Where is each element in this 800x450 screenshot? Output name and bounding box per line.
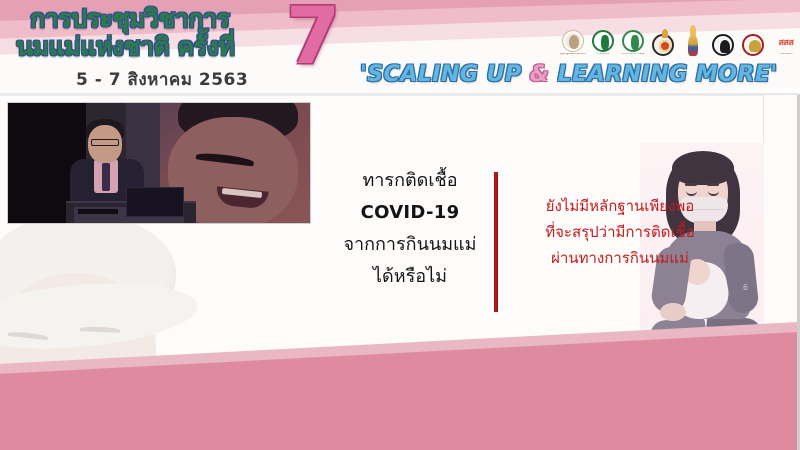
ministry-of-public-health-logo: กรมอนามัย [590,22,616,56]
tagline-text-part1: 'SCALING UP [360,62,530,87]
answer-line-1: ยังไม่มีหลักฐานเพียงพอ [505,193,735,219]
red-vertical-divider [494,172,498,312]
answer-text-block: ยังไม่มีหลักฐานเพียงพอ ที่จะสรุปว่ามีการ… [505,193,735,271]
red-seal-logo [740,22,766,56]
slide-header: การประชุมวิชาการ นมแม่แห่งชาติ ครั้งที่ … [0,0,800,95]
tagline-ampersand: & [530,62,550,87]
conference-title-line2: นมแม่แห่งชาติ ครั้งที่ [14,31,304,59]
slide-frame-top [0,95,800,96]
presentation-slide: การประชุมวิชาการ นมแม่แห่งชาติ ครั้งที่ … [0,0,800,450]
slide-body: ทารกติดเชื้อ COVID-19 จากการกินนมแม่ ได้… [0,95,800,450]
sponsor-logo-row: มูลนิธิศูนย์นมแม่แห่งประเทศไทย กรมอนามัย… [560,22,800,56]
department-of-health-logo: กระทรวงสาธารณสุข [620,22,646,56]
conference-date: 5 - 7 สิงหาคม 2563 [14,59,304,93]
thaihealth-sss-logo: สสส Thai Health [770,22,800,56]
conference-title-line1: การประชุมวิชาการ [14,2,304,31]
question-line-3: จากการกินนมแม่ [330,229,490,261]
conference-title-block: การประชุมวิชาการ นมแม่แห่งชาติ ครั้งที่ … [14,2,304,94]
question-line-1: ทารกติดเชื้อ [330,165,490,197]
tagline-text-part2: LEARNING MORE' [549,62,777,87]
glasses-icon [91,139,119,146]
answer-line-3: ผ่านทางการกินนมแม่ [505,245,735,271]
question-line-4: ได้หรือไม่ [330,261,490,293]
sss-logo-text: สสส [779,35,794,49]
answer-line-2: ที่จะสรุปว่ามีการติดเชื้อ [505,219,735,245]
speaker-video-still[interactable] [8,103,310,223]
thai-breastfeeding-foundation-logo: มูลนิธิศูนย์นมแม่แห่งประเทศไทย [560,22,586,56]
question-text-block: ทารกติดเชื้อ COVID-19 จากการกินนมแม่ ได้… [330,165,490,293]
royal-garuda-logo [680,22,706,56]
royal-emblem-logo [650,22,676,56]
page-number: 6 [743,283,748,292]
laptop-icon [126,187,184,217]
black-seal-logo [710,22,736,56]
question-line-2: COVID-19 [330,197,490,229]
edition-number: 7 [286,0,340,76]
conference-tagline: 'SCALING UP & LEARNING MORE' [360,62,778,87]
